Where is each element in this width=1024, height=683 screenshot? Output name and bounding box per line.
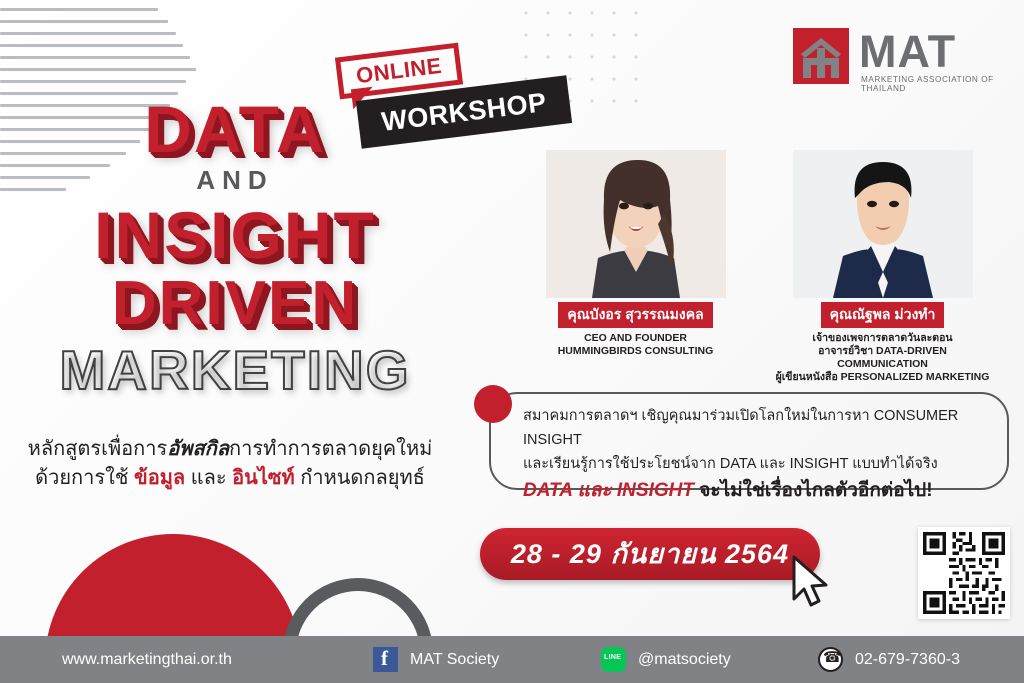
footer-website[interactable]: www.marketingthai.or.th	[62, 636, 232, 683]
mat-logo-tagline: MARKETING ASSOCIATION OF THAILAND	[861, 75, 1008, 93]
subtitle-1c: การทำการตลาดยุคใหม่	[229, 438, 432, 460]
footer-phone[interactable]: 02-679-7360-3	[818, 636, 960, 683]
footer-phone-label: 02-679-7360-3	[855, 651, 960, 669]
main-title: DATA AND INSIGHT DRIVEN MARKETING	[0, 98, 470, 402]
footer-line-label: @matsociety	[638, 651, 731, 669]
subtitle-2d: อินไซท์	[232, 467, 295, 489]
footer-line[interactable]: @matsociety	[601, 636, 731, 683]
speaker-1-photo	[546, 150, 726, 298]
title-line-and: AND	[196, 165, 273, 195]
subtitle-2c: และ	[185, 467, 232, 489]
phone-icon	[818, 647, 843, 672]
description-line-3-rest: จะไม่ใช่เรื่องไกลตัวอีกต่อไป!	[694, 480, 933, 501]
speaker-2-name: คุณณัฐพล ม่วงทำ	[821, 302, 945, 328]
subtitle: หลักสูตรเพื่อการอัพสกิลการทำการตลาดยุคให…	[0, 435, 460, 493]
line-icon	[601, 647, 626, 672]
description-accent-dot	[474, 385, 512, 423]
description-line-2: และเรียนรู้การใช้ประโยชน์จาก DATA และ IN…	[523, 452, 1013, 476]
mat-logo-mark-icon	[793, 28, 849, 84]
facebook-icon	[373, 647, 398, 672]
title-line-data: DATA	[144, 92, 326, 166]
footer-facebook-label: MAT Society	[410, 651, 499, 669]
speaker-1-role-2: HUMMINGBIRDS CONSULTING	[528, 345, 743, 358]
footer-website-label: www.marketingthai.or.th	[62, 651, 232, 669]
online-badge-label: ONLINE	[340, 48, 457, 94]
title-line-marketing: MARKETING	[59, 339, 410, 401]
subtitle-2a: ด้วยการใช้	[35, 467, 134, 489]
subtitle-2e: กำหนดกลยุทธ์	[295, 467, 425, 489]
subtitle-line-2: ด้วยการใช้ ข้อมูล และ อินไซท์ กำหนดกลยุท…	[0, 464, 460, 493]
subtitle-1b: อัพสกิล	[167, 438, 229, 460]
qr-code[interactable]	[918, 527, 1010, 619]
cursor-arrow-icon	[790, 555, 834, 611]
title-line-driven: DRIVEN	[112, 269, 358, 338]
speaker-1-role-1: CEO AND FOUNDER	[528, 332, 743, 345]
date-badge-label: 28 - 29 กันยายน 2564	[480, 528, 820, 580]
mat-logo: MAT MARKETING ASSOCIATION OF THAILAND	[793, 28, 1008, 90]
speaker-1-name: คุณบังอร สุวรรณมงคล	[558, 302, 712, 328]
date-badge[interactable]: 28 - 29 กันยายน 2564	[480, 528, 820, 580]
subtitle-1a: หลักสูตรเพื่อการ	[28, 438, 168, 460]
speaker-2-role-3: ผู้เขียนหนังสือ PERSONALIZED MARKETING	[775, 371, 990, 384]
subtitle-line-1: หลักสูตรเพื่อการอัพสกิลการทำการตลาดยุคให…	[0, 435, 460, 464]
description-line-1: สมาคมการตลาดฯ เชิญคุณมาร่วมเปิดโลกใหม่ใน…	[523, 404, 1013, 452]
description-text: สมาคมการตลาดฯ เชิญคุณมาร่วมเปิดโลกใหม่ใน…	[523, 404, 1013, 506]
description-line-3: DATA และ INSIGHT จะไม่ใช่เรื่องไกลตัวอีก…	[523, 476, 1013, 506]
speaker-2-role-1: เจ้าของเพจการตลาดวันละตอน	[775, 332, 990, 345]
footer-bar: www.marketingthai.or.th MAT Society @mat…	[0, 636, 1024, 683]
poster-canvas: ONLINE WORKSHOP MAT MARKETING ASSOCIATIO…	[0, 0, 1024, 683]
footer-facebook[interactable]: MAT Society	[373, 636, 499, 683]
description-line-3-red: DATA และ INSIGHT	[523, 480, 694, 501]
subtitle-2b: ข้อมูล	[134, 467, 185, 489]
speaker-card-1: คุณบังอร สุวรรณมงคล CEO AND FOUNDER HUMM…	[528, 150, 743, 358]
speaker-2-photo	[793, 150, 973, 298]
mat-logo-name: MAT	[859, 29, 956, 74]
speaker-card-2: คุณณัฐพล ม่วงทำ เจ้าของเพจการตลาดวันละตอ…	[775, 150, 990, 384]
title-line-insight: INSIGHT	[94, 198, 376, 272]
speaker-2-role-2: อาจารย์วิชา DATA-DRIVEN COMMUNICATION	[775, 345, 990, 371]
